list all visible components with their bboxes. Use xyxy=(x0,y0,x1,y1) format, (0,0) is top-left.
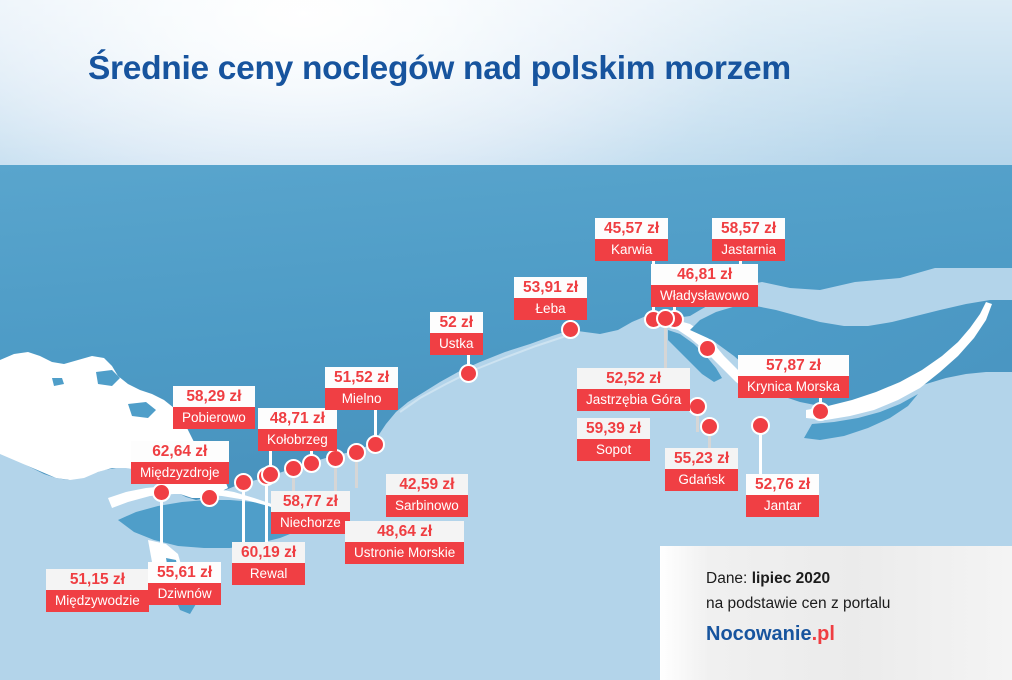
callout-price-jastrzebia-gora: 52,52 zł xyxy=(577,368,690,389)
brand-tld: .pl xyxy=(812,623,835,645)
callout-price-leba: 53,91 zł xyxy=(514,277,587,298)
data-source-box: Dane: lipiec 2020 na podstawie cen z por… xyxy=(660,546,1012,680)
leader-line-rewal xyxy=(265,476,268,545)
price-callout-ustka[interactable]: 52 złUstka xyxy=(430,312,483,355)
callout-city-jastrzebia-gora: Jastrzębia Góra xyxy=(577,389,690,411)
callout-price-miedzywodzie: 51,15 zł xyxy=(46,569,149,590)
map-marker-jastrzebia-gora[interactable] xyxy=(656,309,675,328)
callout-price-krynica-morska: 57,87 zł xyxy=(738,355,849,376)
callout-city-kolobrzeg: Kołobrzeg xyxy=(258,429,337,451)
callout-city-wladyslawowo: Władysławowo xyxy=(651,285,758,307)
map-marker-dziwnow[interactable] xyxy=(234,473,253,492)
price-callout-rewal[interactable]: 60,19 złRewal xyxy=(232,542,305,585)
map-marker-miedzyzdroje[interactable] xyxy=(200,488,219,507)
map-marker-ustka[interactable] xyxy=(459,364,478,383)
infographic-root: Średnie ceny noclegów nad polskim morzem… xyxy=(0,0,1012,680)
price-callout-gdansk[interactable]: 55,23 złGdańsk xyxy=(665,448,738,491)
map-marker-niechorze[interactable] xyxy=(284,459,303,478)
price-callout-dziwnow[interactable]: 55,61 złDziwnów xyxy=(148,562,221,605)
callout-city-leba: Łeba xyxy=(514,298,587,320)
map-marker-ustronie-morskie[interactable] xyxy=(326,449,345,468)
callout-city-miedzywodzie: Międzywodzie xyxy=(46,590,149,612)
nocowanie-brand-logo[interactable]: Nocowanie.pl xyxy=(706,623,890,646)
price-callout-karwia[interactable]: 45,57 złKarwia xyxy=(595,218,668,261)
price-callout-sopot[interactable]: 59,39 złSopot xyxy=(577,418,650,461)
callout-city-gdansk: Gdańsk xyxy=(665,469,738,491)
map-marker-miedzywodzie[interactable] xyxy=(152,483,171,502)
map-marker-pobierowo[interactable] xyxy=(261,465,280,484)
page-title: Średnie ceny noclegów nad polskim morzem xyxy=(88,50,791,88)
callout-price-ustka: 52 zł xyxy=(430,312,483,333)
callout-city-ustka: Ustka xyxy=(430,333,483,355)
credit-source-line: na podstawie cen z portalu xyxy=(706,591,890,616)
map-marker-kolobrzeg[interactable] xyxy=(302,454,321,473)
map-marker-gdansk[interactable] xyxy=(700,417,719,436)
leader-line-miedzywodzie xyxy=(160,492,163,572)
map-marker-sopot[interactable] xyxy=(688,397,707,416)
callout-price-wladyslawowo: 46,81 zł xyxy=(651,264,758,285)
map-marker-sarbinowo[interactable] xyxy=(347,443,366,462)
credit-period: lipiec 2020 xyxy=(752,570,830,587)
callout-price-karwia: 45,57 zł xyxy=(595,218,668,239)
price-callout-sarbinowo[interactable]: 42,59 złSarbinowo xyxy=(386,474,468,517)
price-callout-niechorze[interactable]: 58,77 złNiechorze xyxy=(271,491,350,534)
callout-city-dziwnow: Dziwnów xyxy=(148,583,221,605)
callout-price-jastarnia: 58,57 zł xyxy=(712,218,785,239)
map-marker-jantar[interactable] xyxy=(751,416,770,435)
callout-price-gdansk: 55,23 zł xyxy=(665,448,738,469)
callout-city-jastarnia: Jastarnia xyxy=(712,239,785,261)
price-callout-jastarnia[interactable]: 58,57 złJastarnia xyxy=(712,218,785,261)
callout-city-pobierowo: Pobierowo xyxy=(173,407,255,429)
callout-city-miedzyzdroje: Międzyzdroje xyxy=(131,462,229,484)
callout-price-kolobrzeg: 48,71 zł xyxy=(258,408,337,429)
callout-price-miedzyzdroje: 62,64 zł xyxy=(131,441,229,462)
price-callout-leba[interactable]: 53,91 złŁeba xyxy=(514,277,587,320)
brand-name: Nocowanie xyxy=(706,623,812,645)
price-callout-ustronie-morskie[interactable]: 48,64 złUstronie Morskie xyxy=(345,521,464,564)
callout-price-jantar: 52,76 zł xyxy=(746,474,819,495)
callout-city-ustronie-morskie: Ustronie Morskie xyxy=(345,542,464,564)
callout-city-mielno: Mielno xyxy=(325,388,398,410)
price-callout-krynica-morska[interactable]: 57,87 złKrynica Morska xyxy=(738,355,849,398)
callout-city-karwia: Karwia xyxy=(595,239,668,261)
price-callout-kolobrzeg[interactable]: 48,71 złKołobrzeg xyxy=(258,408,337,451)
callout-city-krynica-morska: Krynica Morska xyxy=(738,376,849,398)
callout-price-ustronie-morskie: 48,64 zł xyxy=(345,521,464,542)
credit-period-line: Dane: lipiec 2020 xyxy=(706,566,890,591)
price-callout-miedzywodzie[interactable]: 51,15 złMiędzywodzie xyxy=(46,569,149,612)
map-marker-krynica-morska[interactable] xyxy=(811,402,830,421)
callout-city-rewal: Rewal xyxy=(232,563,305,585)
price-callout-miedzyzdroje[interactable]: 62,64 złMiędzyzdroje xyxy=(131,441,229,484)
price-callout-jastrzebia-gora[interactable]: 52,52 złJastrzębia Góra xyxy=(577,368,690,411)
callout-city-niechorze: Niechorze xyxy=(271,512,350,534)
callout-city-sopot: Sopot xyxy=(577,439,650,461)
callout-price-rewal: 60,19 zł xyxy=(232,542,305,563)
callout-price-pobierowo: 58,29 zł xyxy=(173,386,255,407)
map-marker-leba[interactable] xyxy=(561,320,580,339)
price-callout-mielno[interactable]: 51,52 złMielno xyxy=(325,367,398,410)
callout-price-dziwnow: 55,61 zł xyxy=(148,562,221,583)
callout-price-sarbinowo: 42,59 zł xyxy=(386,474,468,495)
callout-price-niechorze: 58,77 zł xyxy=(271,491,350,512)
map-marker-jastarnia[interactable] xyxy=(698,339,717,358)
callout-price-mielno: 51,52 zł xyxy=(325,367,398,388)
map-marker-mielno[interactable] xyxy=(366,435,385,454)
callout-city-jantar: Jantar xyxy=(746,495,819,517)
callout-city-sarbinowo: Sarbinowo xyxy=(386,495,468,517)
price-callout-pobierowo[interactable]: 58,29 złPobierowo xyxy=(173,386,255,429)
credit-label: Dane: xyxy=(706,570,747,587)
callout-price-sopot: 59,39 zł xyxy=(577,418,650,439)
price-callout-jantar[interactable]: 52,76 złJantar xyxy=(746,474,819,517)
price-callout-wladyslawowo[interactable]: 46,81 złWładysławowo xyxy=(651,264,758,307)
